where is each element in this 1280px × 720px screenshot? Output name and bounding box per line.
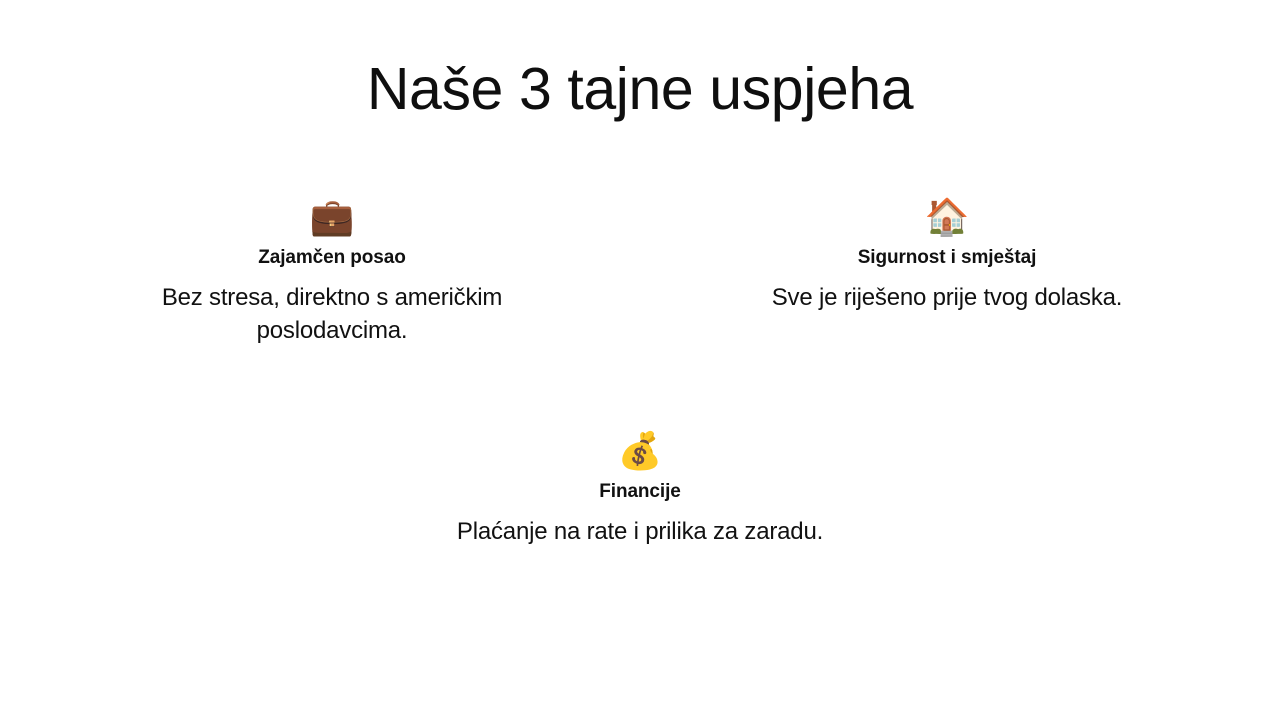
feature-body: Plaćanje na rate i prilika za zaradu. [400, 515, 880, 548]
briefcase-icon: 💼 [97, 196, 567, 240]
feature-item-financije: 💰 Financije Plaćanje na rate i prilika z… [400, 430, 880, 548]
slide-canvas: Naše 3 tajne uspjeha 💼 Zajamčen posao Be… [0, 0, 1280, 720]
feature-item-zajamcen-posao: 💼 Zajamčen posao Bez stresa, direktno s … [97, 196, 567, 347]
house-icon: 🏠 [712, 196, 1182, 240]
feature-body: Bez stresa, direktno s američkim posloda… [97, 281, 567, 347]
page-title: Naše 3 tajne uspjeha [0, 52, 1280, 126]
feature-heading: Zajamčen posao [97, 246, 567, 270]
features-row-top: 💼 Zajamčen posao Bez stresa, direktno s … [0, 196, 1280, 366]
feature-item-sigurnost-i-smjestaj: 🏠 Sigurnost i smještaj Sve je riješeno p… [712, 196, 1182, 314]
feature-heading: Financije [400, 480, 880, 504]
feature-heading: Sigurnost i smještaj [712, 246, 1182, 270]
features-section: 💼 Zajamčen posao Bez stresa, direktno s … [0, 196, 1280, 366]
money-bag-icon: 💰 [400, 430, 880, 474]
feature-body: Sve je riješeno prije tvog dolaska. [712, 281, 1182, 314]
